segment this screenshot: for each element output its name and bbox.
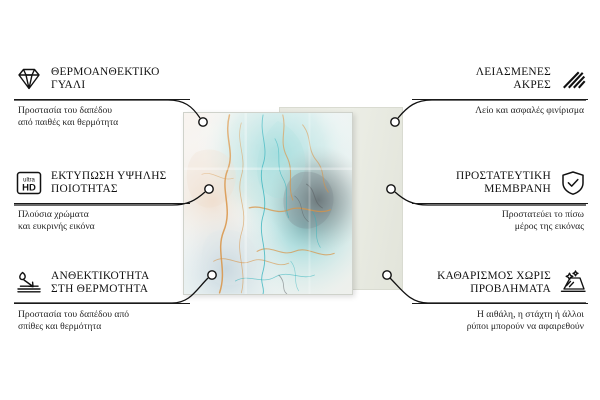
feature-heat-resistance: ΑΝΘΕΚΤΙΚΟΤΗΤΑ ΣΤΗ ΘΕΡΜΟΤΗΤΑ Προστασία το…	[14, 266, 190, 332]
title-line-1: ΠΡΟΣΤΑΤΕΥΤΙΚΗ	[456, 170, 551, 183]
title-line-2: ΓΥΑΛΙ	[51, 79, 160, 92]
feature-easy-cleaning: ΚΑΘΑΡΙΣΜΟΣ ΧΩΡΙΣ ΠΡΟΒΛΗΜΑΤΑ Η αιθάλη, η …	[412, 266, 588, 332]
desc-line-1: Προστασία του δαπέδου από	[18, 309, 190, 321]
feature-title: ΘΕΡΜΟΑΝΘΕΚΤΙΚΟ ΓΥΑΛΙ	[51, 66, 160, 93]
desc-line-1: Προστασία του δαπέδου	[18, 105, 190, 117]
feature-rule	[14, 203, 190, 204]
feature-description: Προστασία του δαπέδου από παιθές και θερ…	[14, 105, 190, 128]
desc-line-1: Πλούσια χρώματα	[18, 209, 190, 221]
title-line-2: ΑΚΡΕΣ	[476, 79, 551, 92]
title-line-2: ΜΕΜΒΡΑΝΗ	[456, 183, 551, 196]
title-line-2: ΣΤΗ ΘΕΡΜΟΤΗΤΑ	[51, 283, 149, 296]
feature-header: ΠΡΟΣΤΑΤΕΥΤΙΚΗ ΜΕΜΒΡΑΝΗ	[412, 166, 588, 200]
feature-protective-membrane: ΠΡΟΣΤΑΤΕΥΤΙΚΗ ΜΕΜΒΡΑΝΗ Προστατεύει το πί…	[412, 166, 588, 232]
desc-line-1: Προστατεύει το πίσω	[412, 209, 584, 221]
feature-polished-edges: ΛΕΙΑΣΜΕΝΕΣ ΑΚΡΕΣ Λείο και ασφαλές φινίρι…	[412, 62, 588, 117]
feature-heat-resistant-glass: ΘΕΡΜΟΑΝΘΕΚΤΙΚΟ ΓΥΑΛΙ Προστασία του δαπέδ…	[14, 62, 190, 128]
title-line-2: ΠΟΙΟΤΗΤΑΣ	[51, 183, 167, 196]
title-line-1: ΚΑΘΑΡΙΣΜΟΣ ΧΩΡΙΣ	[437, 270, 551, 283]
feature-high-quality-print: ultra HD ΕΚΤΥΠΩΣΗ ΥΨΗΛΗΣ ΠΟΙΟΤΗΤΑΣ Πλούσ…	[14, 166, 190, 232]
feature-title: ΕΚΤΥΠΩΣΗ ΥΨΗΛΗΣ ΠΟΙΟΤΗΤΑΣ	[51, 170, 167, 197]
infographic-canvas: ΘΕΡΜΟΑΝΘΕΚΤΙΚΟ ΓΥΑΛΙ Προστασία του δαπέδ…	[0, 0, 600, 400]
title-line-1: ΕΚΤΥΠΩΣΗ ΥΨΗΛΗΣ	[51, 170, 167, 183]
product-front-panel	[183, 112, 353, 295]
feature-description: Λείο και ασφαλές φινίρισμα	[412, 105, 588, 117]
easy-cleaning-icon	[558, 269, 588, 297]
feature-description: Προστατεύει το πίσω μέρος της εικόνας	[412, 209, 588, 232]
feature-rule	[412, 203, 588, 204]
feature-rule	[412, 99, 588, 100]
feature-title: ΑΝΘΕΚΤΙΚΟΤΗΤΑ ΣΤΗ ΘΕΡΜΟΤΗΤΑ	[51, 270, 149, 297]
title-line-1: ΑΝΘΕΚΤΙΚΟΤΗΤΑ	[51, 270, 149, 283]
desc-line-2: από παιθές και θερμότητα	[18, 117, 190, 129]
desc-line-2: σπίθες και θερμότητα	[18, 321, 190, 333]
title-line-1: ΘΕΡΜΟΑΝΘΕΚΤΙΚΟ	[51, 66, 160, 79]
product-image	[183, 108, 405, 295]
heat-resistance-icon	[14, 269, 44, 297]
feature-rule	[14, 303, 190, 304]
polished-edges-icon	[558, 65, 588, 93]
feature-header: ΘΕΡΜΟΑΝΘΕΚΤΙΚΟ ΓΥΑΛΙ	[14, 62, 190, 96]
feature-description: Προστασία του δαπέδου από σπίθες και θερ…	[14, 309, 190, 332]
feature-header: ΛΕΙΑΣΜΕΝΕΣ ΑΚΡΕΣ	[412, 62, 588, 96]
title-line-2: ΠΡΟΒΛΗΜΑΤΑ	[437, 283, 551, 296]
feature-title: ΠΡΟΣΤΑΤΕΥΤΙΚΗ ΜΕΜΒΡΑΝΗ	[456, 170, 551, 197]
desc-line-2: και ευκρινής εικόνα	[18, 221, 190, 233]
ultra-hd-icon: ultra HD	[14, 169, 44, 197]
feature-header: ultra HD ΕΚΤΥΠΩΣΗ ΥΨΗΛΗΣ ΠΟΙΟΤΗΤΑΣ	[14, 166, 190, 200]
marble-ink-artwork	[184, 113, 352, 294]
desc-line-1: Λείο και ασφαλές φινίρισμα	[412, 105, 584, 117]
feature-rule	[14, 99, 190, 100]
shield-check-icon	[558, 169, 588, 197]
diamond-icon	[14, 65, 44, 93]
svg-text:HD: HD	[22, 183, 36, 194]
desc-line-2: μέρος της εικόνας	[412, 221, 584, 233]
feature-rule	[412, 303, 588, 304]
feature-title: ΛΕΙΑΣΜΕΝΕΣ ΑΚΡΕΣ	[476, 66, 551, 93]
feature-description: Η αιθάλη, η στάχτη ή άλλοι ρύποι μπορούν…	[412, 309, 588, 332]
title-line-1: ΛΕΙΑΣΜΕΝΕΣ	[476, 66, 551, 79]
feature-title: ΚΑΘΑΡΙΣΜΟΣ ΧΩΡΙΣ ΠΡΟΒΛΗΜΑΤΑ	[437, 270, 551, 297]
feature-header: ΑΝΘΕΚΤΙΚΟΤΗΤΑ ΣΤΗ ΘΕΡΜΟΤΗΤΑ	[14, 266, 190, 300]
desc-line-2: ρύποι μπορούν να αφαιρεθούν	[412, 321, 584, 333]
desc-line-1: Η αιθάλη, η στάχτη ή άλλοι	[412, 309, 584, 321]
feature-header: ΚΑΘΑΡΙΣΜΟΣ ΧΩΡΙΣ ΠΡΟΒΛΗΜΑΤΑ	[412, 266, 588, 300]
feature-description: Πλούσια χρώματα και ευκρινής εικόνα	[14, 209, 190, 232]
